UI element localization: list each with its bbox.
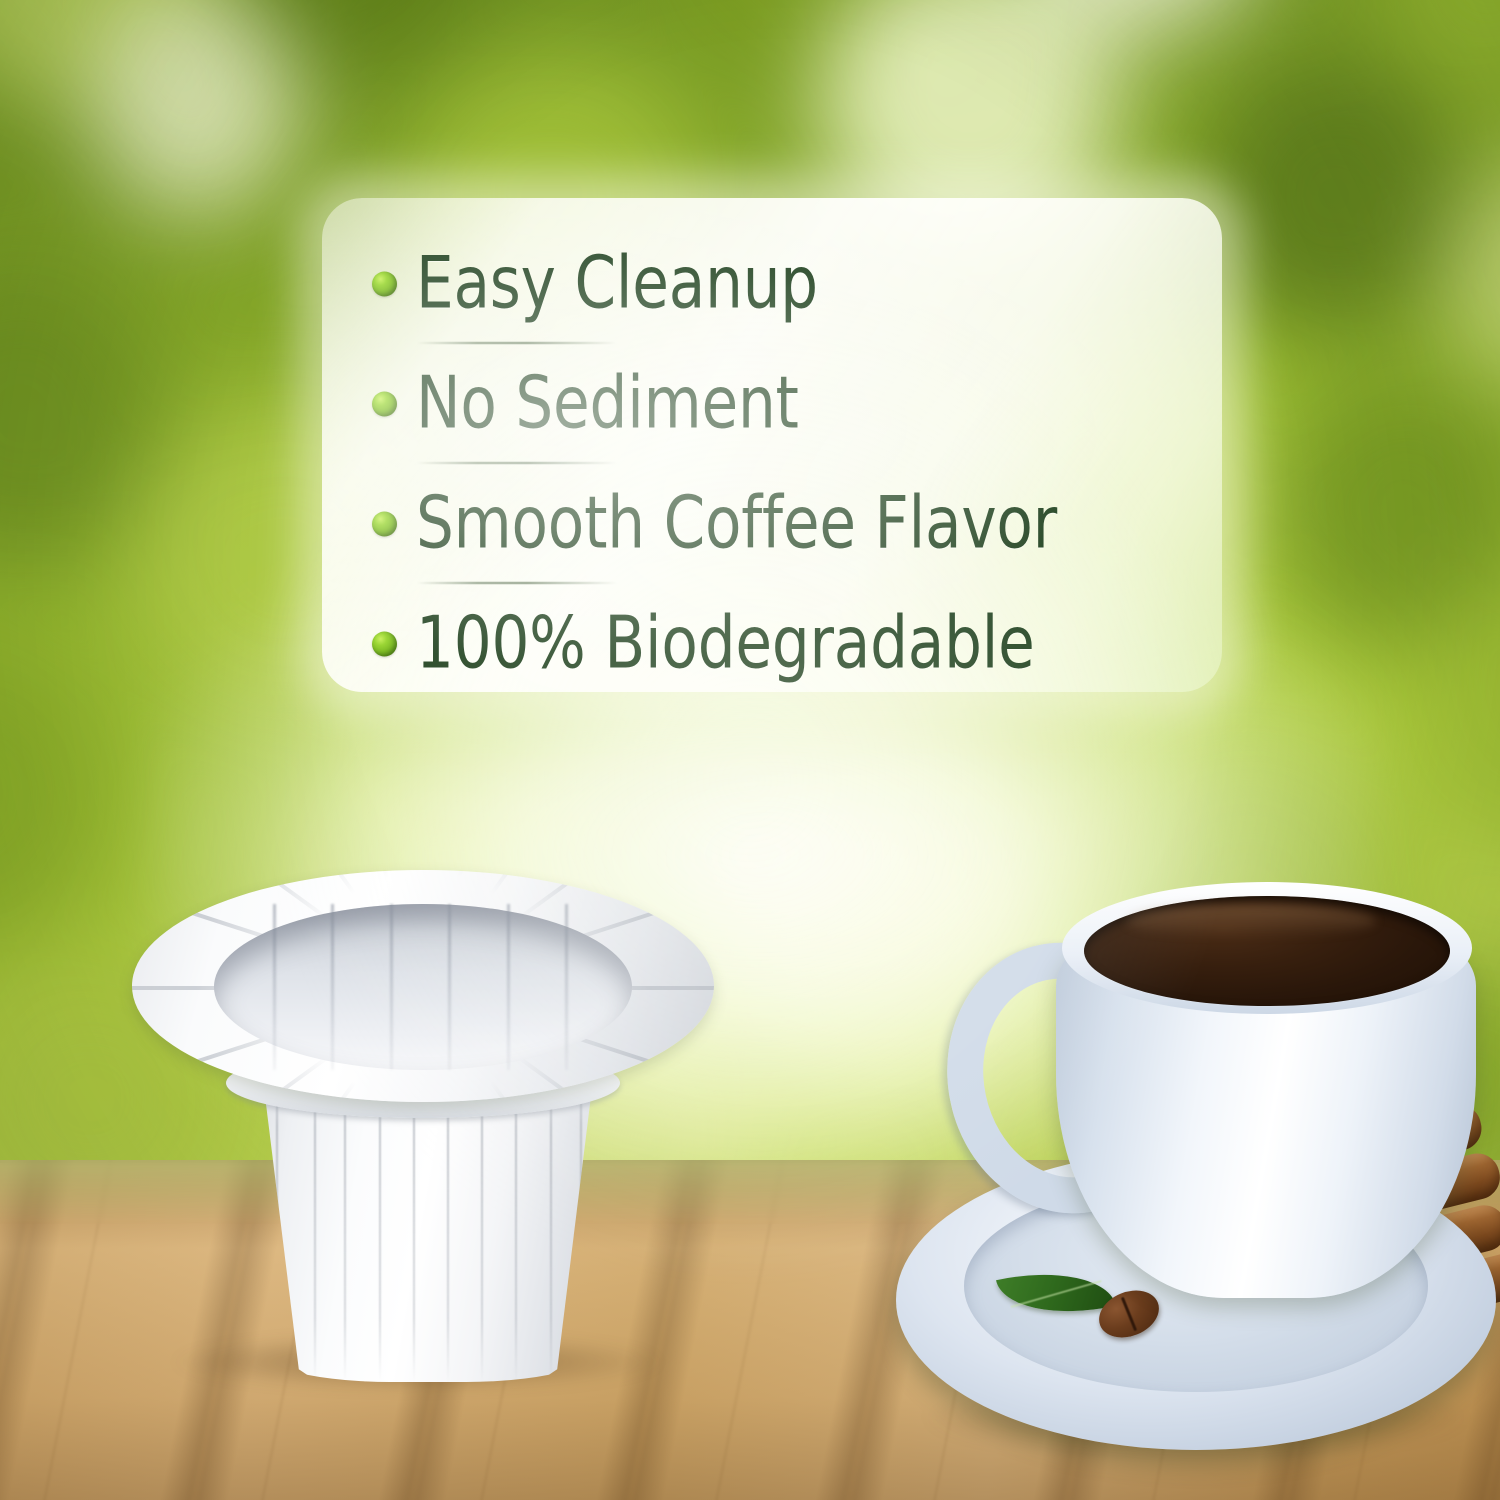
feature-item: No Sediment	[322, 344, 1222, 464]
feature-label: Easy Cleanup	[416, 247, 818, 319]
feature-divider	[417, 462, 617, 464]
paper-coffee-filter-cup	[128, 862, 718, 1382]
feature-list: Easy Cleanup No Sediment Smooth Coffee F…	[322, 198, 1222, 692]
feature-item: Smooth Coffee Flavor	[322, 464, 1222, 584]
product-feature-image: Easy Cleanup No Sediment Smooth Coffee F…	[0, 0, 1500, 1500]
feature-label: No Sediment	[416, 367, 799, 439]
feature-divider	[417, 342, 617, 344]
feature-card: Easy Cleanup No Sediment Smooth Coffee F…	[322, 198, 1222, 692]
feature-label: Smooth Coffee Flavor	[416, 487, 1057, 559]
feature-item: Easy Cleanup	[322, 224, 1222, 344]
green-sphere-bullet-icon	[372, 272, 397, 297]
feature-label: 100% Biodegradable	[416, 607, 1035, 679]
feature-divider	[417, 582, 617, 584]
filter-cup-interior	[214, 904, 632, 1070]
green-sphere-bullet-icon	[372, 392, 397, 417]
feature-item: 100% Biodegradable	[322, 584, 1222, 704]
green-sphere-bullet-icon	[372, 632, 397, 657]
coffee-highlight	[1126, 904, 1376, 938]
coffee-cup-set	[886, 880, 1500, 1500]
green-sphere-bullet-icon	[372, 512, 397, 537]
